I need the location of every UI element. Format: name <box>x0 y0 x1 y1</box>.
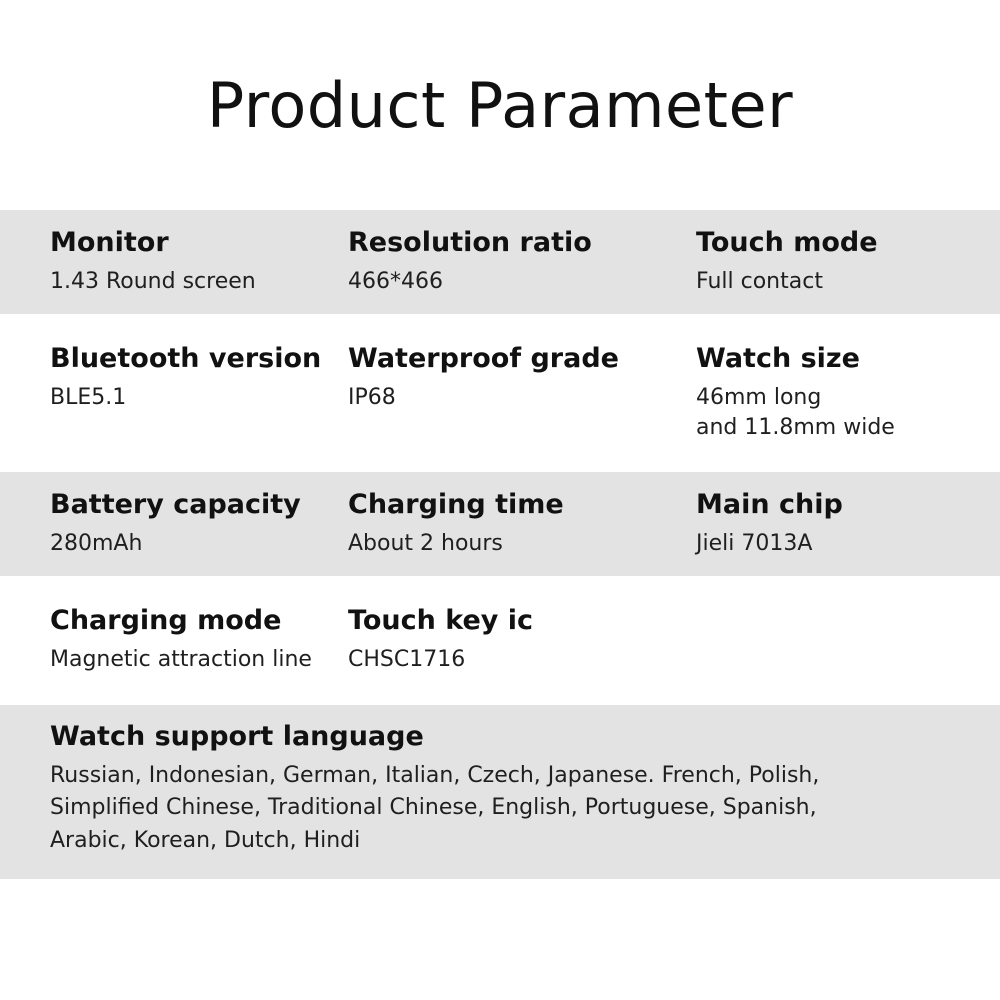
table-cell: Bluetooth version BLE5.1 <box>0 326 348 460</box>
language-section: Watch support language Russian, Indonesi… <box>0 705 1000 880</box>
row-spacer <box>0 576 1000 588</box>
product-parameter-page: Product Parameter Monitor 1.43 Round scr… <box>0 0 1000 1000</box>
table-cell: Waterproof grade IP68 <box>348 326 696 460</box>
bottom-spacer <box>0 879 1000 939</box>
param-value: Magnetic attraction line <box>50 645 344 674</box>
param-label: Monitor <box>50 226 344 260</box>
parameter-table: Monitor 1.43 Round screen Resolution rat… <box>0 210 1000 879</box>
language-list: Russian, Indonesian, German, Italian, Cz… <box>50 760 960 858</box>
table-row: Bluetooth version BLE5.1 Waterproof grad… <box>0 326 1000 460</box>
param-value: 1.43 Round screen <box>50 267 344 296</box>
param-label: Bluetooth version <box>50 342 344 376</box>
param-value: Full contact <box>696 267 996 296</box>
param-value: CHSC1716 <box>348 645 692 674</box>
row-spacer <box>0 693 1000 705</box>
table-row: Monitor 1.43 Round screen Resolution rat… <box>0 210 1000 314</box>
table-cell: Resolution ratio 466*466 <box>348 210 696 314</box>
param-value: 280mAh <box>50 529 344 558</box>
param-value: IP68 <box>348 383 692 412</box>
table-cell: Main chip Jieli 7013A <box>696 472 1000 576</box>
table-cell-empty <box>696 588 1000 692</box>
table-cell: Battery capacity 280mAh <box>0 472 348 576</box>
param-value: BLE5.1 <box>50 383 344 412</box>
row-spacer <box>0 314 1000 326</box>
param-label: Touch mode <box>696 226 996 260</box>
table-cell: Charging mode Magnetic attraction line <box>0 588 348 692</box>
param-label: Touch key ic <box>348 604 692 638</box>
row-spacer <box>0 460 1000 472</box>
table-row: Battery capacity 280mAh Charging time Ab… <box>0 472 1000 576</box>
param-value: 46mm long and 11.8mm wide <box>696 383 996 442</box>
param-label: Main chip <box>696 488 996 522</box>
language-label: Watch support language <box>50 721 960 752</box>
param-label: Waterproof grade <box>348 342 692 376</box>
param-value: About 2 hours <box>348 529 692 558</box>
table-cell: Monitor 1.43 Round screen <box>0 210 348 314</box>
param-label: Resolution ratio <box>348 226 692 260</box>
param-value: 466*466 <box>348 267 692 296</box>
table-row: Charging mode Magnetic attraction line T… <box>0 588 1000 692</box>
param-value: Jieli 7013A <box>696 529 996 558</box>
param-label: Battery capacity <box>50 488 344 522</box>
param-label: Charging mode <box>50 604 344 638</box>
table-cell: Charging time About 2 hours <box>348 472 696 576</box>
table-cell: Touch mode Full contact <box>696 210 1000 314</box>
param-label: Watch size <box>696 342 996 376</box>
page-title: Product Parameter <box>0 0 1000 140</box>
param-label: Charging time <box>348 488 692 522</box>
table-cell: Touch key ic CHSC1716 <box>348 588 696 692</box>
table-cell: Watch size 46mm long and 11.8mm wide <box>696 326 1000 460</box>
